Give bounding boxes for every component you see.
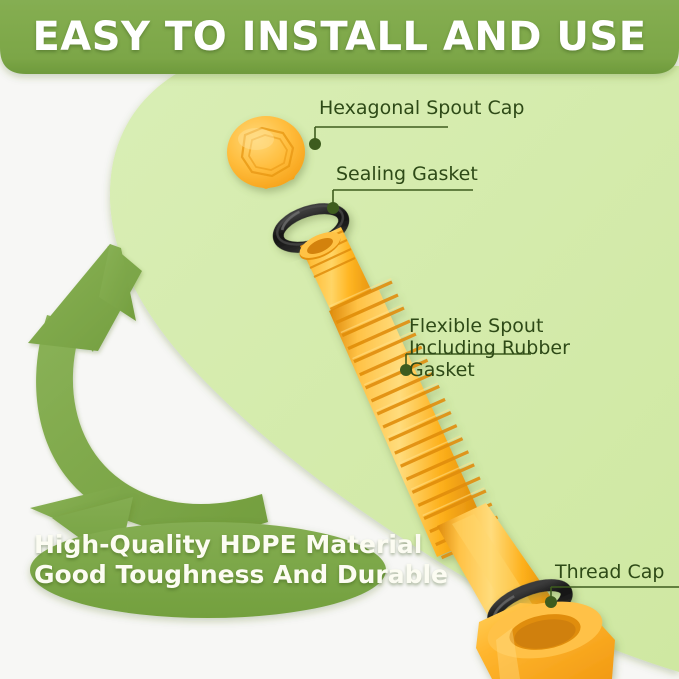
callout-label-thread-cap: Thread Cap xyxy=(555,562,664,584)
callout-dot-thread-cap xyxy=(545,596,557,608)
badge-line-2: Good Toughness And Durable xyxy=(34,560,382,590)
product-infographic: EASY TO INSTALL AND USE Hexagonal Spout … xyxy=(0,0,679,679)
callout-label-hexagonal-spout-cap: Hexagonal Spout Cap xyxy=(319,98,524,120)
page-title: EASY TO INSTALL AND USE xyxy=(0,0,679,74)
callout-label-sealing-gasket: Sealing Gasket xyxy=(336,164,478,186)
callout-dot-hexagonal-spout-cap xyxy=(309,138,321,150)
callout-dot-sealing-gasket xyxy=(327,202,339,214)
leader-line-hexagonal-spout-cap xyxy=(315,127,448,140)
leader-line-thread-cap xyxy=(551,587,679,598)
quality-badge: High-Quality HDPE Material Good Toughnes… xyxy=(34,530,382,589)
leader-line-sealing-gasket xyxy=(333,190,473,204)
callout-label-flexible-spout: Flexible Spout Including Rubber Gasket xyxy=(409,316,629,382)
badge-line-1: High-Quality HDPE Material xyxy=(34,530,382,560)
